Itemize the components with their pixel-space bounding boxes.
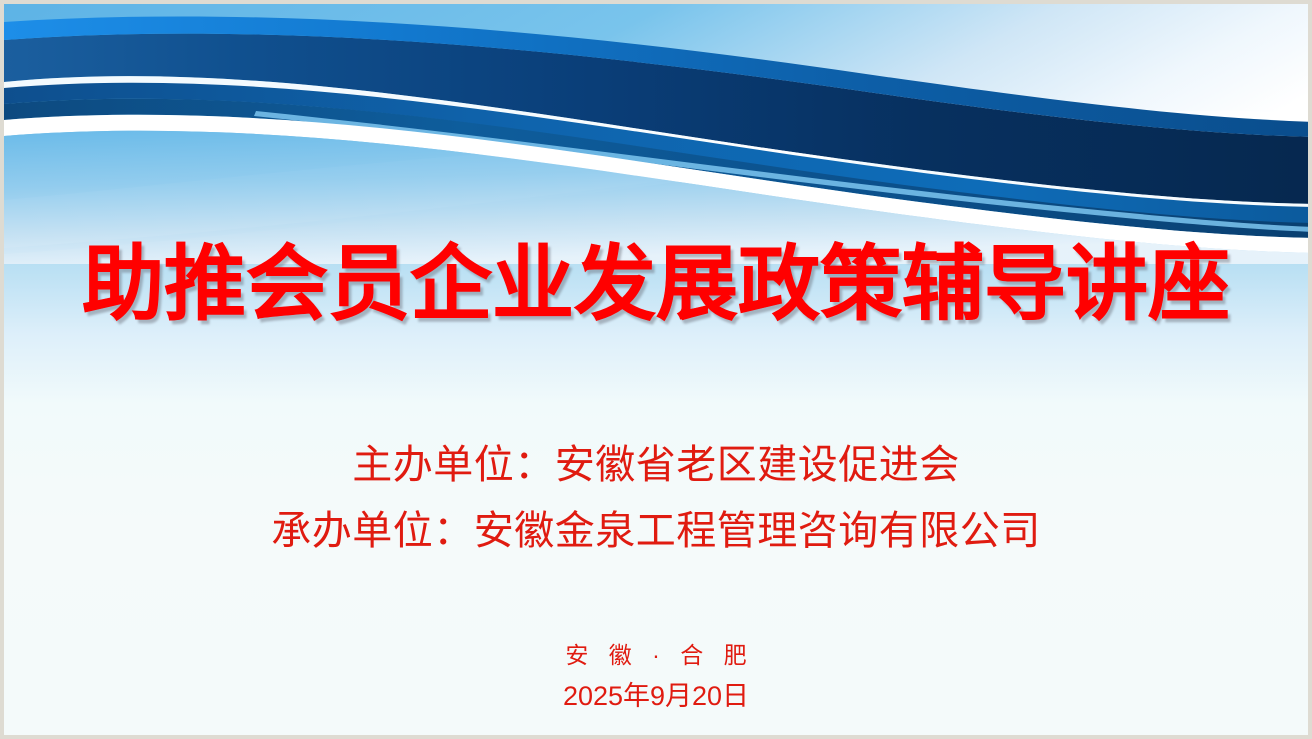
venue-line: 安 徽 · 合 肥 (4, 636, 1308, 670)
presentation-slide: 助推会员企业发展政策辅导讲座 主办单位：安徽省老区建设促进会 承办单位：安徽金泉… (0, 0, 1312, 739)
page-title: 助推会员企业发展政策辅导讲座 (4, 242, 1308, 328)
date-line: 2025年9月20日 (4, 674, 1308, 713)
organiser-organisation-line: 承办单位：安徽金泉工程管理咨询有限公司 (4, 498, 1308, 556)
slide-content: 助推会员企业发展政策辅导讲座 主办单位：安徽省老区建设促进会 承办单位：安徽金泉… (4, 4, 1308, 735)
host-organisation-line: 主办单位：安徽省老区建设促进会 (4, 432, 1308, 490)
